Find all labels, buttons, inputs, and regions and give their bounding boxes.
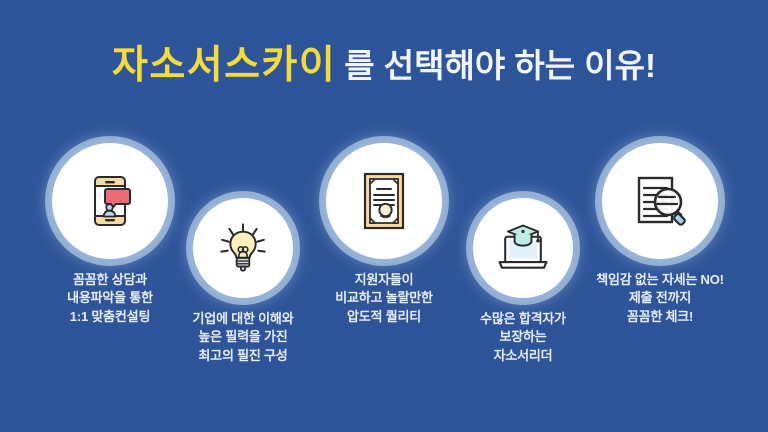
caption-line: 책임감 없는 자세는 NO! (560, 271, 760, 289)
caption-line: 자소서리더 (423, 347, 623, 365)
title-brand: 자소서스카이 (112, 46, 336, 85)
infographic-slide: 자소서스카이를 선택해야 하는 이유! 꼼꼼한 (0, 0, 768, 432)
lightbulb-icon (214, 219, 272, 277)
document-magnifier-icon (628, 169, 692, 233)
caption-line: 최고의 필진 구성 (143, 347, 343, 365)
icon-laptop-graduation (473, 198, 573, 298)
benefit-item-5: 책임감 없는 자세는 NO! 제출 전까지 꼼꼼한 체크! (560, 143, 760, 326)
caption-line: 높은 필력을 가진 (143, 328, 343, 346)
icon-circle (193, 198, 293, 298)
certificate-icon (352, 169, 416, 233)
page-title: 자소서스카이를 선택해야 하는 이유! (0, 46, 768, 85)
laptop-graduation-cap-icon (493, 218, 553, 278)
title-rest: 를 선택해야 하는 이유! (344, 49, 656, 82)
benefit-caption: 책임감 없는 자세는 NO! 제출 전까지 꼼꼼한 체크! (560, 271, 760, 326)
caption-line: 제출 전까지 (560, 289, 760, 307)
icon-circle (602, 143, 718, 259)
icon-circle-wrap (560, 143, 760, 259)
caption-line: 꼼꼼한 체크! (560, 308, 760, 326)
caption-line: 보장하는 (423, 328, 623, 346)
smartphone-chat-icon (78, 169, 142, 233)
